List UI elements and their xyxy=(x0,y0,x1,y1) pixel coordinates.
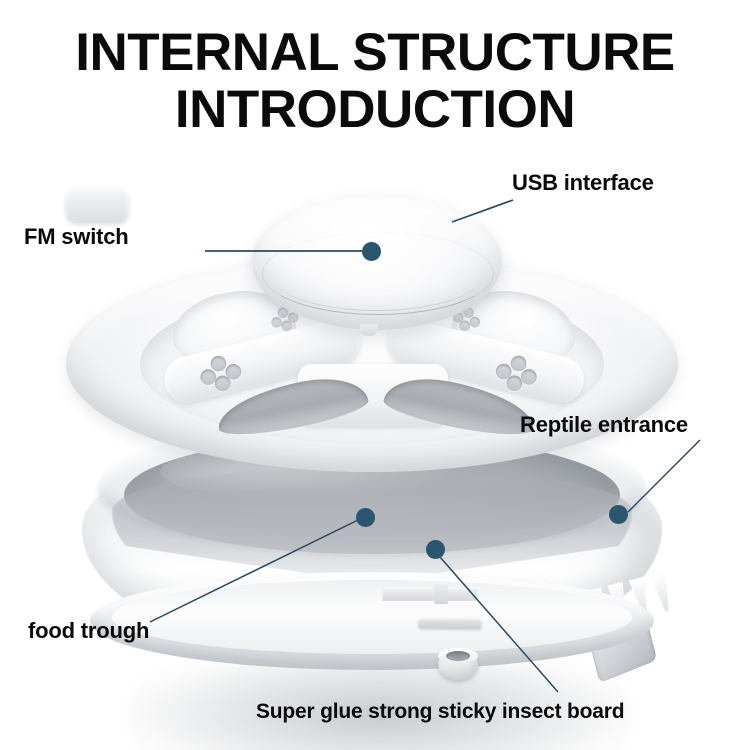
page-title: INTERNAL STRUCTURE INTRODUCTION xyxy=(0,24,750,138)
product-diagram-page: INTERNAL STRUCTURE INTRODUCTION xyxy=(0,0,750,750)
base-lip-notch-tab xyxy=(434,584,448,604)
food-trough xyxy=(436,646,480,682)
callout-label-food-trough: food trough xyxy=(28,618,149,644)
callout-label-fm-switch: FM switch xyxy=(24,224,129,250)
title-line-1: INTERNAL STRUCTURE xyxy=(0,24,750,81)
title-line-2: INTRODUCTION xyxy=(0,81,750,138)
callout-label-usb-interface: USB interface xyxy=(512,170,654,196)
callout-dot-fm-switch[interactable] xyxy=(362,242,381,261)
callout-dot-sticky-board[interactable] xyxy=(426,540,445,559)
callout-dot-food-trough[interactable] xyxy=(356,508,375,527)
callout-label-reptile-entrance: Reptile entrance xyxy=(520,412,688,438)
base-lip-notch-upper xyxy=(382,587,478,601)
callout-dot-reptile-entrance[interactable] xyxy=(609,505,628,524)
base-bottom-lip-inner xyxy=(112,580,632,654)
base-lip-notch-lower xyxy=(418,618,482,630)
device-lid xyxy=(66,188,678,488)
food-trough-opening xyxy=(446,651,470,661)
callout-label-sticky-board: Super glue strong sticky insect board xyxy=(256,700,624,724)
lid-center-window xyxy=(66,188,128,222)
